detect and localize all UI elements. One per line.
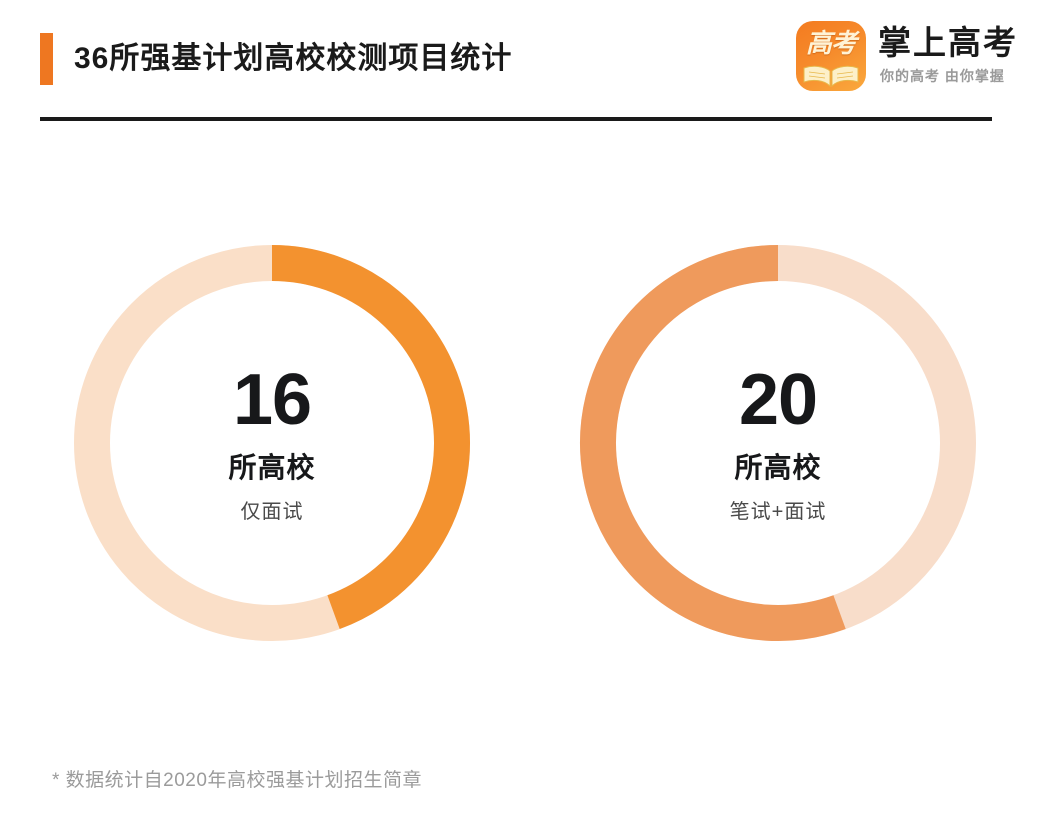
page-title: 36所强基计划高校校测项目统计 [74,38,512,80]
donut-left-caption: 仅面试 [241,499,304,525]
title-accent-bar [40,33,53,85]
donut-right-value: 20 [739,361,817,439]
book-icon [803,63,859,87]
donut-left-unit: 所高校 [228,451,315,485]
header-divider [40,117,992,121]
donut-right-unit: 所高校 [734,451,821,485]
page-header: 36所强基计划高校校测项目统计 高考 掌上高考 你的高考 由你掌握 [0,0,1042,120]
donut-chart-interview-only: 16 所高校 仅面试 [72,243,472,643]
donut-chart-written-plus-interview: 20 所高校 笔试+面试 [578,243,978,643]
logo-icon-glyph: 高考 [796,24,866,64]
source-footnote: * 数据统计自2020年高校强基计划招生简章 [52,765,422,792]
gaokao-app-icon: 高考 [796,21,866,91]
brand-logo[interactable]: 高考 掌上高考 你的高考 由你掌握 [796,21,1016,93]
donut-left-value: 16 [233,361,311,439]
donut-left-center-label: 16 所高校 仅面试 [72,243,472,643]
logo-wordmark: 掌上高考 [878,23,1018,63]
logo-tagline: 你的高考 由你掌握 [880,66,1005,86]
donut-right-caption: 笔试+面试 [730,499,827,525]
donut-right-center-label: 20 所高校 笔试+面试 [578,243,978,643]
